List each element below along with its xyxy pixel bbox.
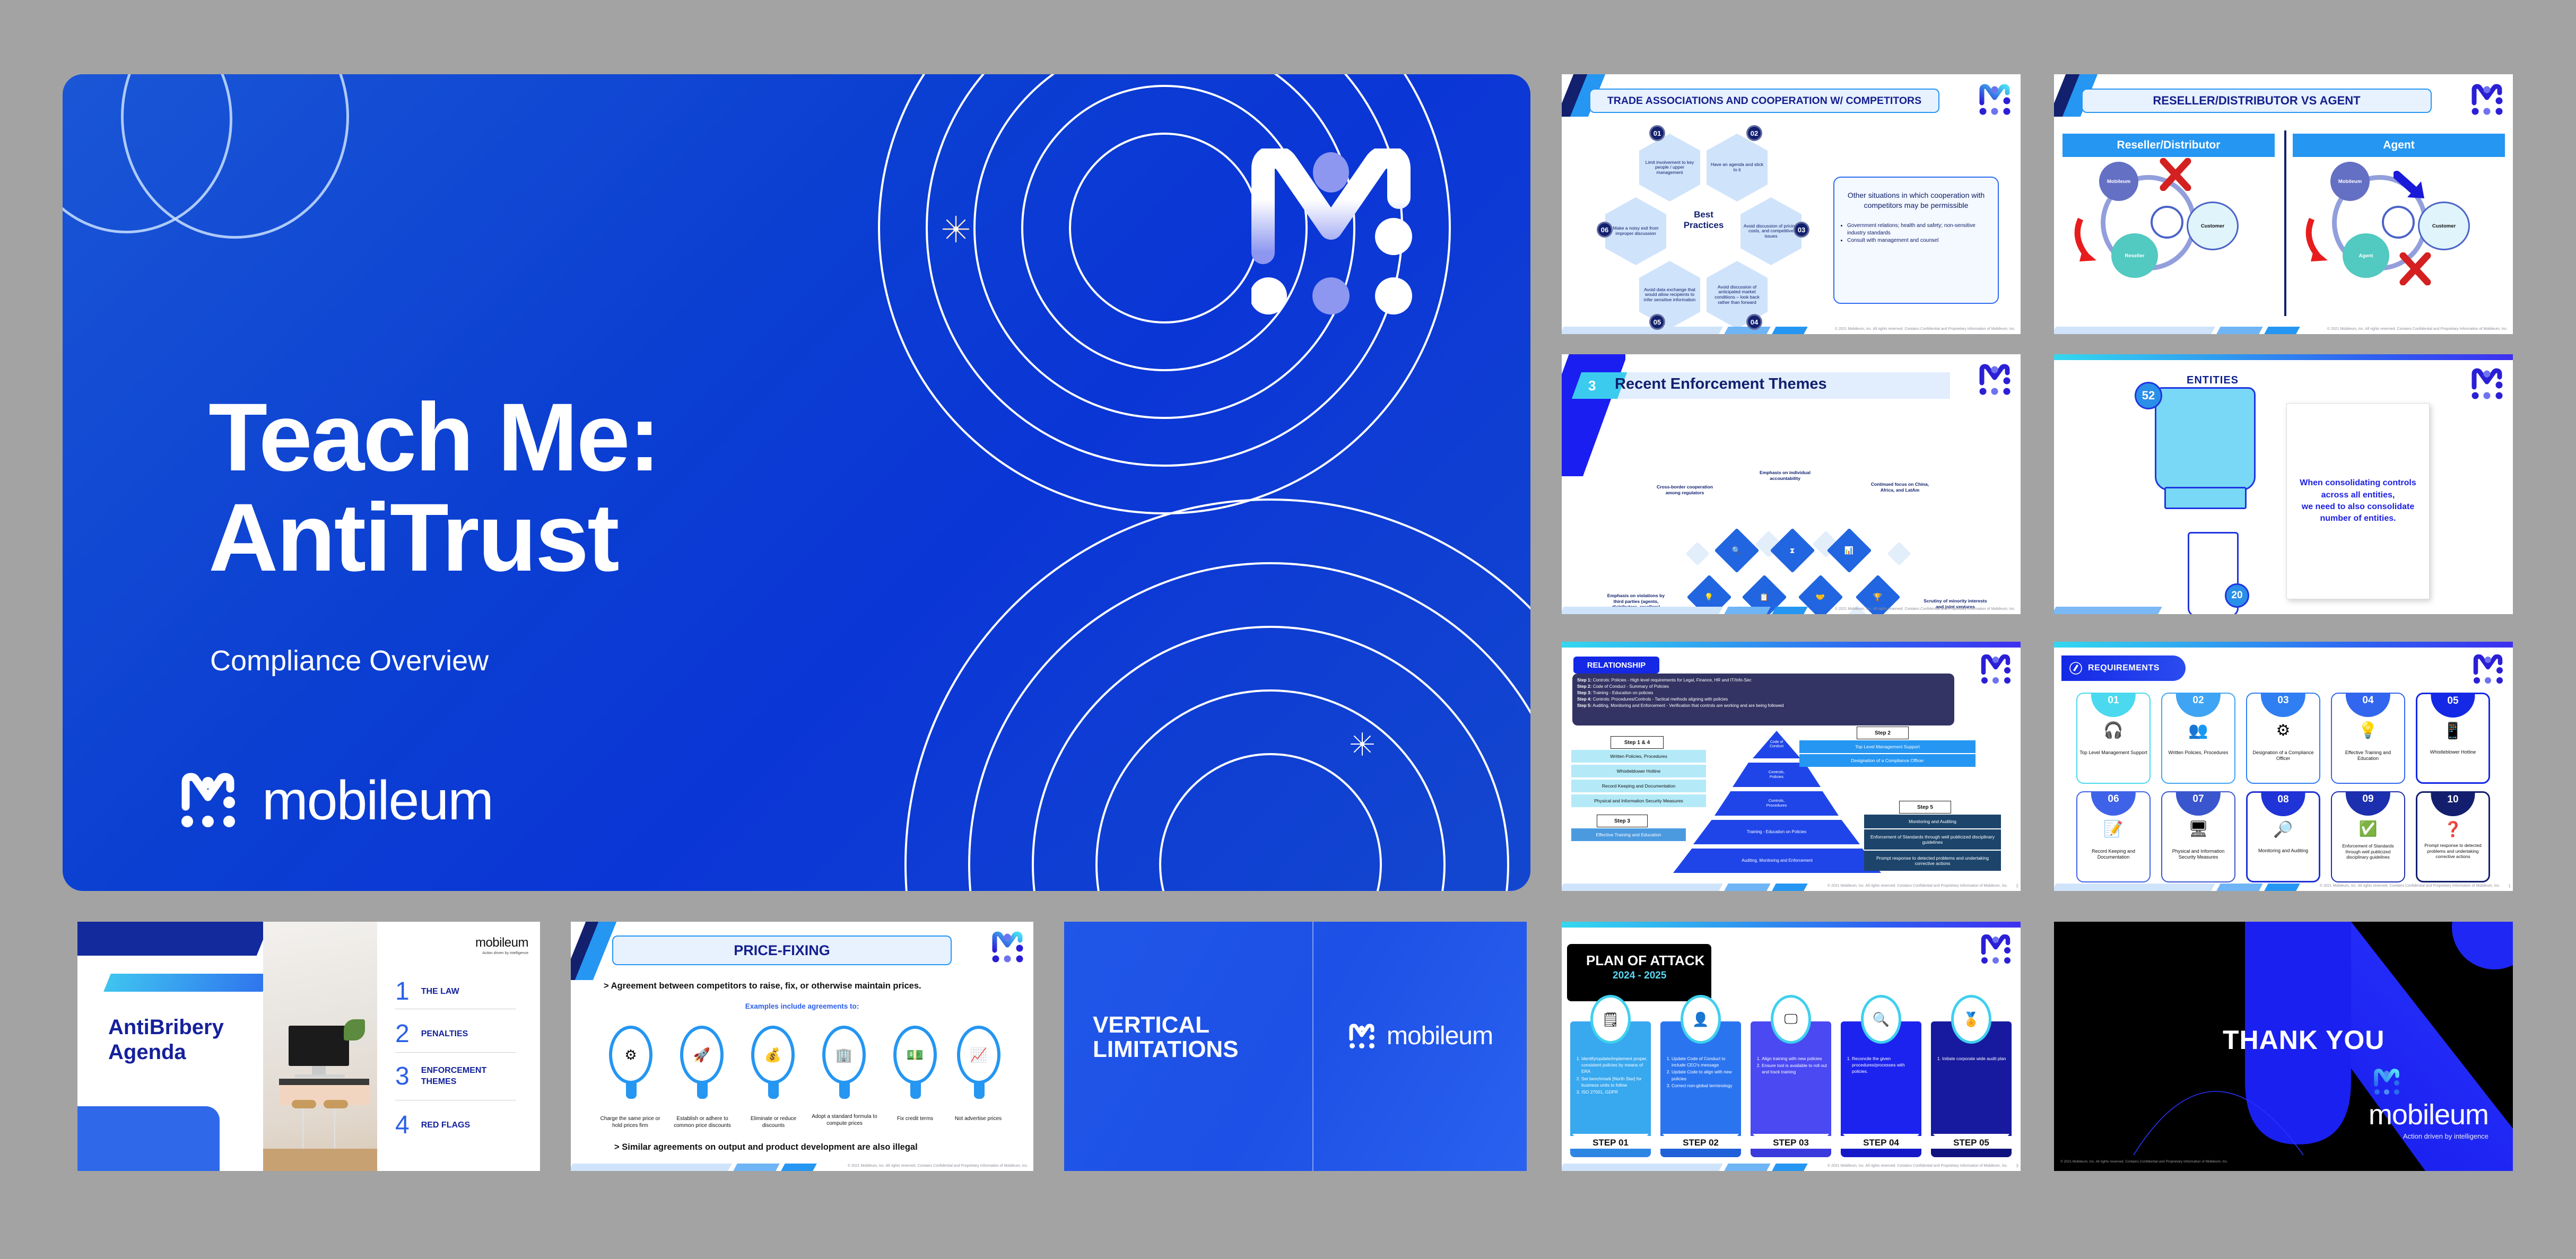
req-card-02-text: Written Policies, Procedures xyxy=(2164,750,2232,777)
req-card-06-number: 06 xyxy=(2091,792,2136,816)
doc-search-icon: 🔎 xyxy=(2248,820,2319,839)
req-card-01[interactable]: 01 🎧 Top Level Management Support xyxy=(2076,693,2151,784)
thank-you-brand: mobileum Action driven by intelligence xyxy=(2369,1069,2488,1140)
column-divider xyxy=(2284,130,2286,316)
divider-1 xyxy=(395,1009,516,1009)
left-item-1[interactable]: Written Policies, Procedures xyxy=(1571,750,1706,763)
brand-wordmark: mobileum xyxy=(2369,1098,2488,1131)
pyramid-tier-5[interactable]: Auditing, Monitoring and Enforcement xyxy=(1673,849,1881,873)
diamond-chart[interactable]: 📊 xyxy=(1827,528,1872,573)
hex-05[interactable]: Avoid data exchange that would allow rec… xyxy=(1639,261,1700,329)
poa-foot-1 xyxy=(1570,1149,1651,1157)
hand-money-icon[interactable]: 💵 xyxy=(893,1026,937,1084)
copyright-footer: © 2021 Mobileum, Inc. All rights reserve… xyxy=(1827,1164,2008,1168)
agenda-item-2[interactable]: 2 PENALTIES xyxy=(395,1019,468,1048)
slide-heading: Recent Enforcement Themes xyxy=(1615,375,1827,393)
label-individual-accountability: Emphasis on individual accountability xyxy=(1756,470,1814,481)
node-customer: Customer xyxy=(2418,202,2470,250)
node-customer: Customer xyxy=(2187,202,2239,250)
slide-thank-you[interactable]: THANK YOU mobileum Action driven by inte… xyxy=(2054,922,2513,1171)
slide-trade-associations[interactable]: TRADE ASSOCIATIONS AND COOPERATION W/ CO… xyxy=(1562,74,2021,334)
hex-02[interactable]: Have an agenda and stick to it xyxy=(1707,134,1768,202)
req-card-08[interactable]: 08 🔎 Monitoring and Auditing xyxy=(2246,791,2320,882)
bottom-stripes xyxy=(571,1164,858,1171)
agenda-item-3-label: ENFORCEMENT THEMES xyxy=(421,1065,501,1088)
req-card-02-number: 02 xyxy=(2176,694,2221,717)
building-icon[interactable]: 🏢 xyxy=(822,1026,866,1084)
mobileum-mark-icon xyxy=(2470,84,2503,117)
tag-relationship: RELATIONSHIP xyxy=(1573,657,1659,674)
copyright-footer: © 2021 Mobileum, Inc. All rights reserve… xyxy=(2060,1160,2228,1164)
top-gradient-bar xyxy=(1562,922,2021,928)
req-card-08-number: 08 xyxy=(2261,793,2305,816)
slide-relationship-pyramid[interactable]: RELATIONSHIP Step 1: Controls: Policies … xyxy=(1562,642,2021,891)
req-card-10[interactable]: 10 ❓ Prompt response to detected problem… xyxy=(2416,791,2490,882)
req-card-04-text: Effective Training and Education xyxy=(2334,750,2402,777)
left-item-5[interactable]: Effective Training and Education xyxy=(1571,828,1686,841)
badge-icon xyxy=(2069,661,2083,675)
red-arrow-icon xyxy=(2302,215,2339,263)
mobileum-mark-icon xyxy=(2470,368,2503,401)
req-card-03[interactable]: 03 ⚙ Designation of a Compliance Officer xyxy=(2246,693,2320,784)
agenda-item-3[interactable]: 3 ENFORCEMENT THEMES xyxy=(395,1062,501,1091)
growth-chart-icon[interactable]: 📈 xyxy=(957,1026,1000,1084)
brand-wordmark: mobileum xyxy=(475,935,528,950)
mobileum-mark-icon xyxy=(180,773,240,830)
poa-foot-2 xyxy=(1660,1149,1741,1157)
rocket-icon[interactable]: 🚀 xyxy=(680,1026,724,1084)
pf-caption-3: Eliminate or reduce discounts xyxy=(741,1116,806,1129)
red-arrow-icon xyxy=(2071,215,2108,263)
plan-years: 2024 - 2025 xyxy=(1567,969,1711,982)
agenda-item-1-number: 1 xyxy=(395,977,410,1006)
question-gear-icon: ❓ xyxy=(2417,820,2488,838)
report-icon: 🗒 xyxy=(1590,995,1631,1044)
pf-stem-2 xyxy=(697,1081,708,1099)
top-gradient-bar xyxy=(2054,642,2513,648)
pf-caption-4: Adopt a standard formula to compute pric… xyxy=(811,1114,878,1127)
node-mobileum: Mobileum xyxy=(2099,162,2138,201)
step-label-2: Step 2 xyxy=(1857,727,1909,739)
poa-column-4-list: Reconcile the given procedures/processes… xyxy=(1845,1055,1918,1076)
pf-caption-5: Fix credit terms xyxy=(884,1116,946,1123)
pf-caption-2: Establish or adhere to common price disc… xyxy=(668,1116,736,1129)
req-card-01-number: 01 xyxy=(2091,694,2136,717)
vertical-title-line2: LIMITATIONS xyxy=(1093,1037,1239,1062)
mobileum-mark-icon xyxy=(2373,1069,2400,1096)
slide-vertical-limitations[interactable]: VERTICAL LIMITATIONS mobileum xyxy=(1064,922,1527,1171)
jar-large xyxy=(2155,387,2256,491)
headset-person-icon: 🎧 xyxy=(2077,721,2149,740)
divider-3 xyxy=(395,1100,516,1100)
req-card-03-number: 03 xyxy=(2261,694,2305,717)
top-gradient-bar xyxy=(1562,642,2021,648)
hex-center-label: Best Practices xyxy=(1673,209,1734,231)
req-card-05[interactable]: 05 📱 Whistleblower Hotline xyxy=(2416,693,2490,784)
checklist-pen-icon: ✅ xyxy=(2332,820,2404,837)
diamond-search[interactable]: 🔍 xyxy=(1715,528,1760,573)
right-item-5a[interactable]: Monitoring and Auditing xyxy=(1864,815,2001,828)
left-item-3[interactable]: Record Keeping and Documentation xyxy=(1571,780,1706,792)
clipboard-pen-icon: 📝 xyxy=(2077,820,2149,838)
diamond-hourglass[interactable]: ⧗ xyxy=(1770,528,1815,573)
sparkle-icon xyxy=(942,215,970,243)
req-card-09-text: Enforcement of Standards through well pu… xyxy=(2334,843,2402,876)
hand-coin-icon[interactable]: 💰 xyxy=(751,1026,795,1084)
gear-idea-icon: ⚙ xyxy=(2247,721,2319,740)
pf-stem-4 xyxy=(839,1081,850,1099)
req-card-05-number: 05 xyxy=(2431,694,2475,718)
x-mark-icon xyxy=(2399,252,2432,285)
slide-entities-consolidation[interactable]: ENTITIES 52 20 ENTITIES When consolidati… xyxy=(2054,354,2513,614)
pf-stem-3 xyxy=(768,1081,779,1099)
top-gradient-bar xyxy=(2054,354,2513,360)
badge-entities-bottom-count: 20 xyxy=(2225,583,2249,608)
hex-05-number: 05 xyxy=(1649,314,1665,330)
req-card-02[interactable]: 02 👥 Written Policies, Procedures xyxy=(2161,693,2235,784)
slide-deck-overview: Teach Me: AntiTrust Compliance Overview … xyxy=(0,0,2576,1259)
bottom-stripes xyxy=(2054,884,2338,891)
label-geo-focus: Continued focus on China, Africa, and La… xyxy=(1869,482,1930,493)
team-idea-icon: 💡 xyxy=(2332,721,2404,740)
copyright-footer: © 2021 Mobileum, Inc. All rights reserve… xyxy=(848,1164,1028,1168)
screen-icon: 🖵 xyxy=(1771,995,1811,1044)
brand-logo: mobileum Action driven by intelligence xyxy=(475,935,528,955)
hero-title-line1: Teach Me: xyxy=(208,387,659,487)
mobileum-mark-icon xyxy=(1978,84,2011,117)
footer-statement: > Similar agreements on output and produ… xyxy=(614,1142,918,1152)
poa-column-2-list: Update Code of Conduct to include CEO's … xyxy=(1665,1055,1738,1089)
slide-plan-of-attack[interactable]: PLAN OF ATTACK 2024 - 2025 Identify/upda… xyxy=(1562,922,2021,1171)
badge-entities-top-count: 52 xyxy=(2135,382,2162,409)
slide-price-fixing[interactable]: PRICE-FIXING > Agreement between competi… xyxy=(571,922,1033,1171)
node-reseller: Reseller xyxy=(2111,233,2158,278)
vertical-title: VERTICAL LIMITATIONS xyxy=(1093,1013,1239,1062)
label-entities-top: ENTITIES xyxy=(2187,374,2239,387)
accent-block xyxy=(77,1106,220,1171)
page-title: Teach Me: AntiTrust xyxy=(208,387,659,588)
req-card-05-text: Whistleblower Hotline xyxy=(2420,749,2486,777)
thank-you-title: THANK YOU xyxy=(2223,1025,2384,1055)
diamond-ghost-1 xyxy=(1685,541,1709,565)
phone-ring-icon: 📱 xyxy=(2417,722,2488,740)
pf-caption-1: Charge the same price or hold prices fir… xyxy=(596,1116,664,1129)
person-board-icon: 👤 xyxy=(1681,995,1721,1044)
hero-title-line2: AntiTrust xyxy=(208,487,659,588)
bottom-stripes xyxy=(1562,884,1846,891)
slide-reseller-vs-agent[interactable]: RESELLER/DISTRIBUTOR VS AGENT Reseller/D… xyxy=(2054,74,2513,334)
page-number: 1 xyxy=(2509,884,2511,888)
plan-title: PLAN OF ATTACK xyxy=(1567,944,1711,969)
callout-bullet-2: Consult with management and counsel xyxy=(1847,237,1994,244)
req-card-04-number: 04 xyxy=(2346,694,2390,717)
req-card-07-number: 07 xyxy=(2176,792,2221,816)
hex-01[interactable]: Limit involvement to key people / upper … xyxy=(1639,134,1700,202)
agenda-item-4-number: 4 xyxy=(395,1111,410,1140)
hex-03[interactable]: Avoid discussion of pricing, costs, and … xyxy=(1740,197,1802,265)
agenda-item-2-number: 2 xyxy=(395,1019,410,1048)
bottom-stripes xyxy=(1562,1164,1846,1171)
pf-caption-6: Not advertise prices xyxy=(942,1116,1014,1123)
requirements-title-pill: REQUIREMENTS xyxy=(2061,655,2186,681)
agenda-item-1-label: THE LAW xyxy=(421,987,459,996)
bottom-stripes xyxy=(1562,327,1846,334)
step-line-1: Step 1: Controls: Policies - High level … xyxy=(1577,677,1950,684)
agenda-item-1[interactable]: 1 THE LAW xyxy=(395,977,459,1006)
vertical-brand-logo: mobileum xyxy=(1348,1021,1493,1051)
poa-column-5-list: Initiate corporate wide audit plan xyxy=(1935,1055,2008,1062)
pf-stem-5 xyxy=(910,1081,921,1099)
slide-requirements[interactable]: REQUIREMENTS 01 🎧 Top Level Management S… xyxy=(2054,642,2513,891)
bottom-stripes xyxy=(2054,327,2338,334)
mobileum-mark-icon xyxy=(1980,654,2011,685)
req-card-04[interactable]: 04 💡 Effective Training and Education xyxy=(2331,693,2405,784)
agenda-list-panel: mobileum Action driven by intelligence 1… xyxy=(377,922,540,1171)
req-card-08-text: Monitoring and Auditing xyxy=(2250,848,2317,876)
mobileum-m-logo-icon xyxy=(1251,148,1426,318)
plan-title-box: PLAN OF ATTACK 2024 - 2025 xyxy=(1567,944,1711,1001)
req-card-09[interactable]: 09 ✅ Enforcement of Standards through we… xyxy=(2331,791,2405,882)
callout-box: Other situations in which cooperation wi… xyxy=(1833,177,1999,304)
right-item-2b[interactable]: Designation of a Compliance Officer xyxy=(1799,754,1975,767)
agenda-title-line2: Agenda xyxy=(108,1040,224,1065)
callout-title: Other situations in which cooperation wi… xyxy=(1839,182,1994,215)
agenda-title: AntiBribery Agenda xyxy=(108,1015,224,1065)
node-agent: Agent xyxy=(2343,233,2389,278)
agenda-item-2-label: PENALTIES xyxy=(421,1029,468,1039)
slide-heading: PRICE-FIXING xyxy=(612,935,952,965)
callout-bullet-1: Government relations; health and safety;… xyxy=(1847,222,1994,237)
hex-02-number: 02 xyxy=(1746,125,1762,141)
brand-tagline: Action driven by intelligence xyxy=(475,951,528,955)
agenda-item-4-label: RED FLAGS xyxy=(421,1121,470,1130)
mobileum-mark-icon xyxy=(991,931,1024,964)
sparkle-icon-2 xyxy=(1350,732,1374,756)
steps-summary-box: Step 1: Controls: Policies - High level … xyxy=(1572,674,1954,725)
node-hub xyxy=(2151,206,2183,239)
poa-column-1-list: Identify/update/implement proper, consis… xyxy=(1574,1055,1648,1096)
gear-tools-icon[interactable]: ⚙ xyxy=(609,1026,652,1084)
mobileum-mark-icon xyxy=(1978,364,2011,397)
slide-heading: RESELLER/DISTRIBUTOR VS AGENT xyxy=(2082,89,2432,113)
copyright-footer: © 2021 Mobileum, Inc. All rights reserve… xyxy=(2327,327,2508,331)
pf-stem-6 xyxy=(974,1081,985,1099)
req-card-07[interactable]: 07 🖥 Physical and Information Security M… xyxy=(2161,791,2235,882)
blue-arrow-icon xyxy=(2394,171,2432,204)
right-item-5b[interactable]: Enforcement of Standards through well pu… xyxy=(1864,829,2001,850)
node-hub xyxy=(2382,206,2415,239)
req-card-06-text: Record Keeping and Documentation xyxy=(2079,849,2147,876)
note-consolidation: When consolidating controls across all e… xyxy=(2286,403,2430,599)
step-label-3: Step 3 xyxy=(1597,815,1648,827)
req-card-06[interactable]: 06 📝 Record Keeping and Documentation xyxy=(2076,791,2151,882)
subheading: Examples include agreements to: xyxy=(571,1002,1033,1010)
pyramid-tier-4[interactable]: Training - Education on Policies xyxy=(1693,820,1860,844)
copyright-footer: © 2021 Mobileum, Inc. All rights reserve… xyxy=(1835,327,2015,331)
hex-06[interactable]: Make a noisy exit from improper discussi… xyxy=(1605,197,1666,265)
pyramid-tier-1[interactable]: Code of Conduct xyxy=(1753,731,1800,758)
req-card-10-text: Prompt response to detected problems and… xyxy=(2420,843,2486,876)
slide-antibribery-agenda[interactable]: mobileum Action driven by intelligence 1… xyxy=(77,922,540,1171)
agenda-item-3-number: 3 xyxy=(395,1062,410,1091)
bottom-stripes xyxy=(2054,607,2192,614)
vertical-title-line1: VERTICAL xyxy=(1093,1013,1239,1037)
step-line-5: Step 5: Auditing, Monitoring and Enforce… xyxy=(1577,703,1950,709)
step-line-4: Step 4: Controls: Procedures/Controls - … xyxy=(1577,696,1950,703)
node-mobileum: Mobileum xyxy=(2330,162,2370,201)
brand-wordmark: mobileum xyxy=(262,770,493,833)
slide-recent-enforcement-themes[interactable]: 3 Recent Enforcement Themes 🔍 ⧗ 📊 💡 📋 🤝 … xyxy=(1562,354,2021,614)
requirements-title: REQUIREMENTS xyxy=(2088,663,2160,673)
bottom-stripes xyxy=(1562,607,1846,614)
accent-bar xyxy=(103,974,270,992)
mobileum-mark-icon xyxy=(1348,1024,1375,1049)
req-card-07-text: Physical and Information Security Measur… xyxy=(2164,849,2232,876)
page-number: 2 xyxy=(2016,884,2018,888)
req-card-09-number: 09 xyxy=(2346,792,2390,816)
hero-brand-logo: mobileum xyxy=(180,770,493,833)
office-photo xyxy=(263,922,377,1171)
pf-stem-1 xyxy=(626,1081,637,1099)
slide-heading: TRADE ASSOCIATIONS AND COOPERATION W/ CO… xyxy=(1589,89,1939,113)
copyright-footer: © 2021 Mobileum, Inc. All rights reserve… xyxy=(2320,884,2500,888)
mobileum-mark-icon xyxy=(1980,934,2011,965)
req-card-01-text: Top Level Management Support xyxy=(2079,750,2147,777)
copyright-footer: © 2021 Mobileum, Inc. All rights reserve… xyxy=(1827,884,2008,888)
hex-01-number: 01 xyxy=(1649,125,1665,141)
brand-tagline: Action driven by intelligence xyxy=(2369,1132,2488,1140)
poa-column-3-list: Align training with new policiesEnsure t… xyxy=(1755,1055,1828,1076)
jar-large-neck xyxy=(2164,487,2247,509)
left-item-4[interactable]: Physical and Information Security Measur… xyxy=(1571,794,1706,807)
poa-foot-4 xyxy=(1841,1149,1921,1157)
decor-arches-bottom-right xyxy=(873,467,1530,891)
hex-03-number: 03 xyxy=(1794,222,1809,238)
heading-badge-number: 3 xyxy=(1588,378,1596,394)
lead-statement: > Agreement between competitors to raise… xyxy=(604,981,921,991)
copyright-footer: © 2021 Mobileum, Inc. All rights reserve… xyxy=(1835,607,2015,611)
pyramid-tier-3[interactable]: Controls, Procedures xyxy=(1715,791,1839,816)
hero-subtitle: Compliance Overview xyxy=(210,644,489,677)
mobileum-mark-icon xyxy=(2473,654,2503,685)
agenda-title-line1: AntiBribery xyxy=(108,1015,224,1040)
hand-people-icon: 👥 xyxy=(2162,721,2234,740)
column-header-agent: Agent xyxy=(2293,134,2505,157)
hex-06-number: 06 xyxy=(1597,222,1613,238)
label-cross-border: Cross-border cooperation among regulator… xyxy=(1653,484,1717,495)
brand-wordmark: mobileum xyxy=(1387,1021,1493,1051)
monitor-user-icon: 🖥 xyxy=(2162,820,2234,838)
magnifier-pulse-icon: 🔍 xyxy=(1861,995,1901,1044)
req-card-03-text: Designation of a Compliance Officer xyxy=(2249,750,2317,777)
right-item-2a[interactable]: Top Level Management Support xyxy=(1799,740,1975,753)
step-label-5: Step 5 xyxy=(1899,801,1951,814)
poa-foot-5 xyxy=(1931,1149,2012,1157)
x-mark-icon xyxy=(2159,158,2192,191)
hex-04-number: 04 xyxy=(1746,314,1762,330)
divider-2 xyxy=(395,1052,516,1053)
right-item-5c[interactable]: Prompt response to detected problems and… xyxy=(1864,851,2001,871)
poa-foot-3 xyxy=(1751,1149,1831,1157)
certificate-icon: 🏅 xyxy=(1951,995,1991,1044)
vertical-divider xyxy=(1312,922,1313,1171)
step-line-2: Step 2: Code of Conduct - Summary of Pol… xyxy=(1577,684,1950,690)
column-header-reseller: Reseller/Distributor xyxy=(2062,134,2275,157)
step-line-3: Step 3: Training - Education on policies xyxy=(1577,690,1950,696)
req-card-10-number: 10 xyxy=(2431,793,2475,816)
page-number: 3 xyxy=(2016,1164,2018,1168)
diamond-ghost-6 xyxy=(1887,541,1911,565)
agenda-item-4[interactable]: 4 RED FLAGS xyxy=(395,1111,470,1140)
left-item-2[interactable]: Whistleblower Hotline xyxy=(1571,765,1706,777)
slide-title-teach-me-antitrust[interactable]: Teach Me: AntiTrust Compliance Overview … xyxy=(63,74,1530,891)
step-label-1-4: Step 1 & 4 xyxy=(1611,736,1664,749)
